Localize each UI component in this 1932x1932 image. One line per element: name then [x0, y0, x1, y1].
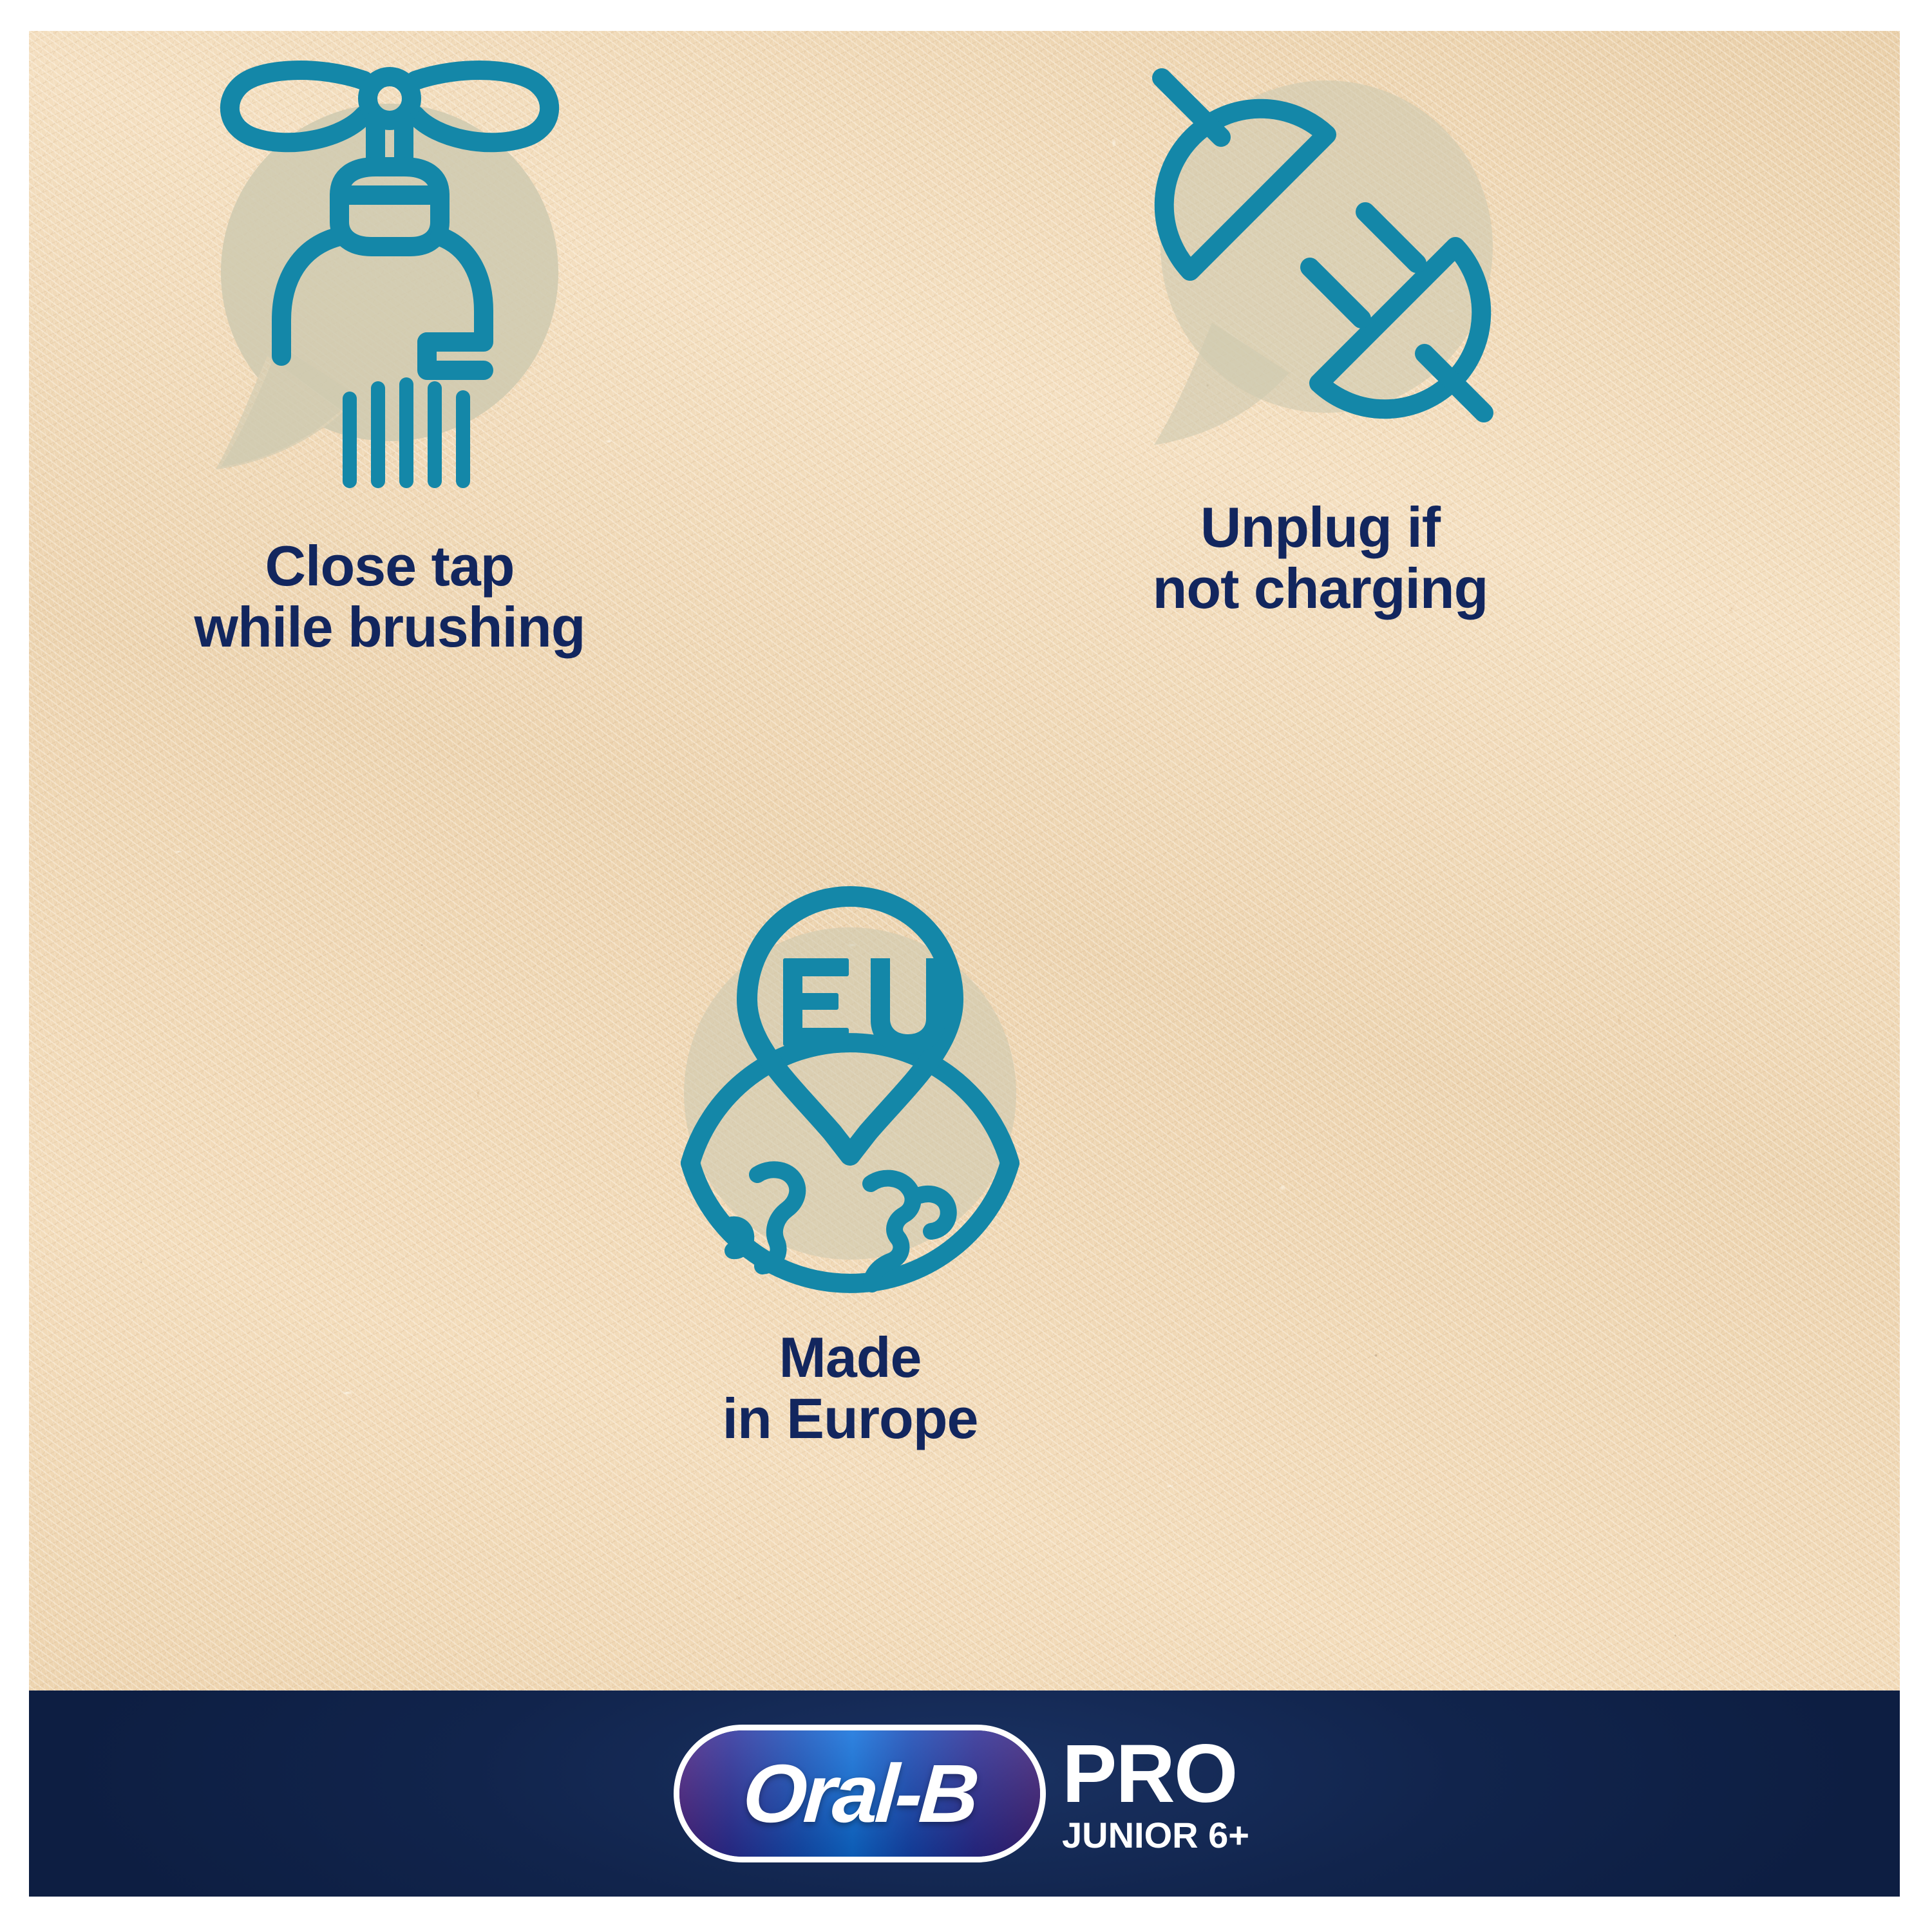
eu-globe-pin-icon: EU [631, 862, 1069, 1300]
feature-unplug: Unplug if not charging [1059, 53, 1581, 619]
model-name-block: PRO JUNIOR 6+ [1062, 1736, 1249, 1853]
unplugged-plug-icon [1095, 53, 1546, 466]
feature-caption-close-tap: Close tap while brushing [129, 535, 650, 658]
oral-b-logo: Oral-B [679, 1730, 1040, 1857]
brand-footer-bar: Oral-B PRO JUNIOR 6+ [29, 1690, 1900, 1897]
feature-close-tap: Close tap while brushing [129, 53, 650, 658]
feature-made-in-europe: EU Made in Europe [589, 862, 1111, 1449]
feature-caption-made-in-europe: Made in Europe [589, 1327, 1111, 1449]
feature-caption-unplug: Unplug if not charging [1059, 497, 1581, 619]
model-name: PRO [1062, 1736, 1236, 1812]
faucet-tap-icon [171, 53, 609, 504]
model-subtitle: JUNIOR 6+ [1062, 1817, 1249, 1853]
product-feature-panel: Close tap while brushing Un [29, 31, 1900, 1897]
oral-b-logo-text: Oral-B [740, 1747, 979, 1841]
